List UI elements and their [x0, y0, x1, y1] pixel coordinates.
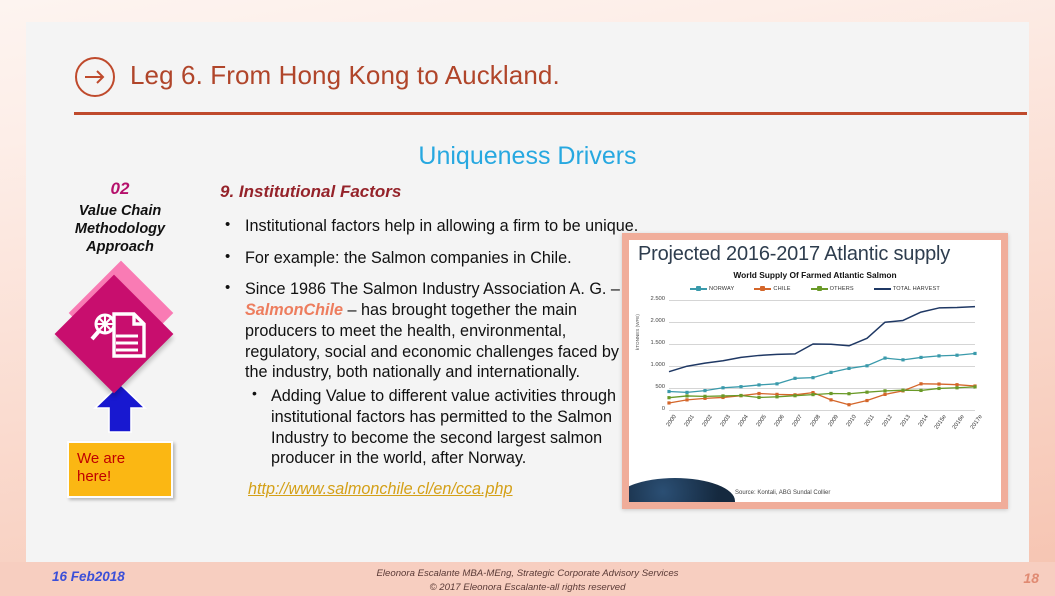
series-marker: [829, 392, 832, 395]
series-marker: [721, 394, 724, 397]
series-marker: [757, 396, 760, 399]
series-marker: [955, 383, 958, 386]
rail-step-number: 02: [40, 180, 200, 199]
series-marker: [919, 389, 922, 392]
series-marker: [829, 398, 832, 401]
series-marker: [811, 376, 814, 379]
series-marker: [847, 367, 850, 370]
series-marker: [703, 395, 706, 398]
salmonchile-emphasis: SalmonChile: [245, 301, 343, 319]
series-marker: [865, 391, 868, 394]
bullet-text: Institutional factors help in allowing a…: [245, 217, 638, 235]
document-magnifier-icon: [88, 306, 150, 364]
chart-plot-area: kTONNES (WFE) 05001.0001.5002.0002.50020…: [629, 294, 987, 444]
circle-arrow-right-icon: [74, 56, 116, 98]
rail-subtitle: Value Chain Methodology Approach: [40, 202, 200, 256]
series-marker: [937, 354, 940, 357]
series-marker: [721, 386, 724, 389]
legend-swatch: [754, 288, 771, 290]
series-marker: [901, 389, 904, 392]
series-marker: [775, 382, 778, 385]
chart-card: Projected 2016-2017 Atlantic supply Worl…: [622, 233, 1008, 509]
series-marker: [703, 389, 706, 392]
chart-title: Projected 2016-2017 Atlantic supply: [638, 243, 1001, 266]
list-item: For example: the Salmon companies in Chi…: [212, 248, 644, 269]
legend-item-norway: NORWAY: [690, 286, 734, 292]
sub-bullet-list: Adding Value to different value activiti…: [245, 386, 644, 469]
legend-swatch: [811, 288, 828, 290]
footer-credit: Eleonora Escalante MBA-MEng, Strategic C…: [0, 567, 1055, 595]
up-arrow-icon: [91, 421, 149, 438]
legend-label: TOTAL HARVEST: [893, 286, 940, 292]
rail-subtitle-line: Approach: [40, 238, 200, 256]
sub-bullet-text: Adding Value to different value activiti…: [271, 387, 616, 467]
you-are-here-callout: We are here!: [67, 441, 173, 498]
list-item: Institutional factors help in allowing a…: [212, 216, 644, 237]
series-marker: [883, 356, 886, 359]
topic-heading: 9. Institutional Factors: [220, 182, 644, 202]
legend-label: NORWAY: [709, 286, 734, 292]
series-marker: [775, 395, 778, 398]
series-marker: [757, 383, 760, 386]
chart-subtitle: World Supply Of Farmed Atlantic Salmon: [629, 270, 1001, 280]
legend-label: CHILE: [773, 286, 790, 292]
series-marker: [865, 399, 868, 402]
legend-item-total-harvest: TOTAL HARVEST: [874, 286, 940, 292]
footer-credit-line2: © 2017 Eleonora Escalante-all rights res…: [0, 581, 1055, 595]
series-marker: [793, 394, 796, 397]
salmonchile-link[interactable]: http://www.salmonchile.cl/en/cca.php: [248, 480, 644, 499]
series-marker: [955, 386, 958, 389]
series-line-total-harvest: [669, 307, 975, 372]
series-marker: [685, 398, 688, 401]
rail-subtitle-line: Value Chain: [40, 202, 200, 220]
series-marker: [739, 394, 742, 397]
list-item: Adding Value to different value activiti…: [245, 386, 644, 469]
series-marker: [901, 358, 904, 361]
series-marker: [937, 382, 940, 385]
decorative-blob: [622, 478, 735, 509]
series-marker: [811, 393, 814, 396]
slide-header: Leg 6. From Hong Kong to Auckland.: [50, 36, 1005, 118]
bullet-list: Institutional factors help in allowing a…: [212, 216, 644, 469]
chart-legend: NORWAYCHILEOTHERSTOTAL HARVEST: [629, 286, 1001, 292]
bullet-text: For example: the Salmon companies in Chi…: [245, 249, 572, 267]
bullet-text: Since 1986 The Salmon Industry Associati…: [245, 280, 620, 298]
series-marker: [667, 390, 670, 393]
series-marker: [757, 392, 760, 395]
rail-subtitle-line: Methodology: [40, 220, 200, 238]
legend-item-chile: CHILE: [754, 286, 790, 292]
series-line-norway: [669, 353, 975, 392]
series-marker: [739, 385, 742, 388]
series-marker: [793, 377, 796, 380]
methodology-rail: 02 Value Chain Methodology Approach: [40, 180, 200, 498]
series-marker: [667, 396, 670, 399]
series-marker: [847, 392, 850, 395]
chart-source: Source: Kontali, ABG Sundal Collier: [735, 490, 830, 496]
series-marker: [955, 354, 958, 357]
legend-label: OTHERS: [830, 286, 854, 292]
header-divider: [74, 112, 1027, 115]
series-marker: [973, 352, 976, 355]
slide: Leg 6. From Hong Kong to Auckland. Uniqu…: [26, 22, 1029, 574]
series-marker: [973, 385, 976, 388]
list-item: Since 1986 The Salmon Industry Associati…: [212, 279, 644, 469]
footer-credit-line1: Eleonora Escalante MBA-MEng, Strategic C…: [0, 567, 1055, 581]
legend-item-others: OTHERS: [811, 286, 854, 292]
page-title: Leg 6. From Hong Kong to Auckland.: [130, 60, 560, 91]
footer-page-number: 18: [1023, 570, 1039, 586]
series-marker: [847, 403, 850, 406]
series-marker: [937, 387, 940, 390]
content-column: 9. Institutional Factors Institutional f…: [212, 182, 644, 499]
series-marker: [883, 389, 886, 392]
series-marker: [919, 356, 922, 359]
series-marker: [685, 391, 688, 394]
series-marker: [865, 364, 868, 367]
series-marker: [829, 371, 832, 374]
legend-swatch: [690, 288, 707, 290]
series-marker: [685, 394, 688, 397]
series-marker: [667, 401, 670, 404]
slide-footer: 16 Feb2018 Eleonora Escalante MBA-MEng, …: [0, 562, 1055, 596]
chart-series-layer: [629, 294, 987, 444]
series-marker: [919, 382, 922, 385]
section-title: Uniqueness Drivers: [26, 142, 1029, 171]
methodology-badge: [54, 270, 186, 382]
series-marker: [883, 393, 886, 396]
legend-swatch: [874, 288, 891, 290]
